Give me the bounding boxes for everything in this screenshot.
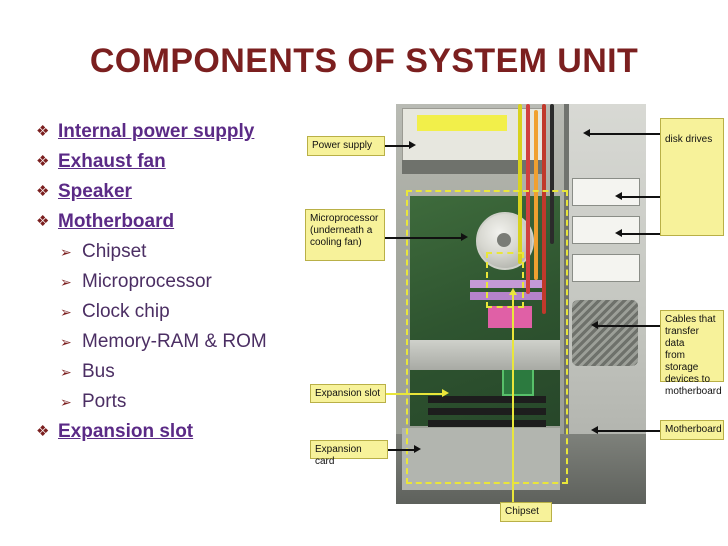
bullet-marker-icon: ❖ bbox=[36, 178, 58, 206]
callout-expansion-card: Expansion card bbox=[310, 440, 388, 459]
arrow-icon bbox=[442, 389, 449, 397]
leader-line-disk-drives-3 bbox=[620, 233, 660, 235]
arrow-icon bbox=[409, 141, 416, 149]
callout-disk-drives-label: disk drives bbox=[665, 134, 712, 145]
leader-line-disk-drives-2 bbox=[620, 196, 660, 198]
slide: COMPONENTS OF SYSTEM UNIT ❖ Internal pow… bbox=[0, 0, 728, 546]
disk-drive-bay bbox=[572, 178, 640, 206]
list-item: ❖ Expansion slot bbox=[36, 418, 314, 446]
disk-drive-bay bbox=[572, 254, 640, 282]
bullet-label: Chipset bbox=[82, 238, 146, 266]
bullet-label: Speaker bbox=[58, 178, 132, 206]
callout-power-supply: Power supply bbox=[307, 136, 385, 156]
arrow-icon bbox=[509, 288, 517, 295]
list-item: ➢ Ports bbox=[36, 388, 314, 416]
list-item: ❖ Exhaust fan bbox=[36, 148, 314, 176]
page-title: COMPONENTS OF SYSTEM UNIT bbox=[0, 42, 728, 81]
bullet-marker-icon: ➢ bbox=[60, 268, 82, 296]
bullet-label: Expansion slot bbox=[58, 418, 193, 446]
list-item: ❖ Speaker bbox=[36, 178, 314, 206]
arrow-icon bbox=[591, 321, 598, 329]
arrow-icon bbox=[583, 129, 590, 137]
bullet-marker-icon: ➢ bbox=[60, 328, 82, 356]
bullet-label: Ports bbox=[82, 388, 126, 416]
disk-drive-bay bbox=[572, 216, 640, 244]
callout-cables: Cables that transfer data from storage d… bbox=[660, 310, 724, 382]
list-item: ➢ Chipset bbox=[36, 238, 314, 266]
list-item: ➢ Memory-RAM & ROM bbox=[36, 328, 314, 356]
chipset-highlight-box bbox=[486, 252, 524, 308]
arrow-icon bbox=[615, 192, 622, 200]
list-item: ❖ Motherboard bbox=[36, 208, 314, 236]
list-item: ➢ Clock chip bbox=[36, 298, 314, 326]
arrow-icon bbox=[615, 229, 622, 237]
arrow-icon bbox=[461, 233, 468, 241]
leader-line-expansion-card bbox=[388, 449, 416, 451]
list-item: ➢ Microprocessor bbox=[36, 268, 314, 296]
motherboard-highlight-box bbox=[406, 190, 568, 484]
bullet-list: ❖ Internal power supply ❖ Exhaust fan ❖ … bbox=[36, 118, 314, 448]
bullet-label: Motherboard bbox=[58, 208, 174, 236]
bullet-marker-icon: ❖ bbox=[36, 418, 58, 446]
leader-line-motherboard bbox=[596, 430, 660, 432]
callout-expansion-slot: Expansion slot bbox=[310, 384, 386, 403]
bullet-marker-icon: ➢ bbox=[60, 238, 82, 266]
power-supply-sticker bbox=[417, 115, 507, 131]
bullet-marker-icon: ❖ bbox=[36, 118, 58, 146]
arrow-icon bbox=[591, 426, 598, 434]
bullet-marker-icon: ➢ bbox=[60, 298, 82, 326]
callout-motherboard: Motherboard bbox=[660, 420, 724, 440]
bullet-marker-icon: ➢ bbox=[60, 388, 82, 416]
callout-chipset: Chipset bbox=[500, 502, 552, 522]
bullet-label: Microprocessor bbox=[82, 268, 212, 296]
bullet-marker-icon: ❖ bbox=[36, 208, 58, 236]
bullet-label: Memory-RAM & ROM bbox=[82, 328, 267, 356]
callout-disk-drives: disk drives bbox=[660, 118, 724, 236]
leader-line-disk-drives-1 bbox=[588, 133, 660, 135]
callout-microprocessor: Microprocessor (underneath a cooling fan… bbox=[305, 209, 385, 261]
list-item: ❖ Internal power supply bbox=[36, 118, 314, 146]
bullet-label: Exhaust fan bbox=[58, 148, 166, 176]
arrow-icon bbox=[414, 445, 421, 453]
bullet-marker-icon: ❖ bbox=[36, 148, 58, 176]
leader-line-microprocessor bbox=[385, 237, 463, 239]
bullet-label: Bus bbox=[82, 358, 115, 386]
exhaust-fan-grill bbox=[572, 300, 638, 366]
leader-line-expansion-slot bbox=[386, 393, 444, 395]
system-unit-photo bbox=[396, 104, 646, 504]
bullet-label: Clock chip bbox=[82, 298, 170, 326]
bullet-label: Internal power supply bbox=[58, 118, 254, 146]
list-item: ➢ Bus bbox=[36, 358, 314, 386]
bullet-marker-icon: ➢ bbox=[60, 358, 82, 386]
leader-line-cables bbox=[596, 325, 660, 327]
leader-line-chipset bbox=[512, 292, 514, 502]
leader-line-power-supply bbox=[385, 145, 411, 147]
